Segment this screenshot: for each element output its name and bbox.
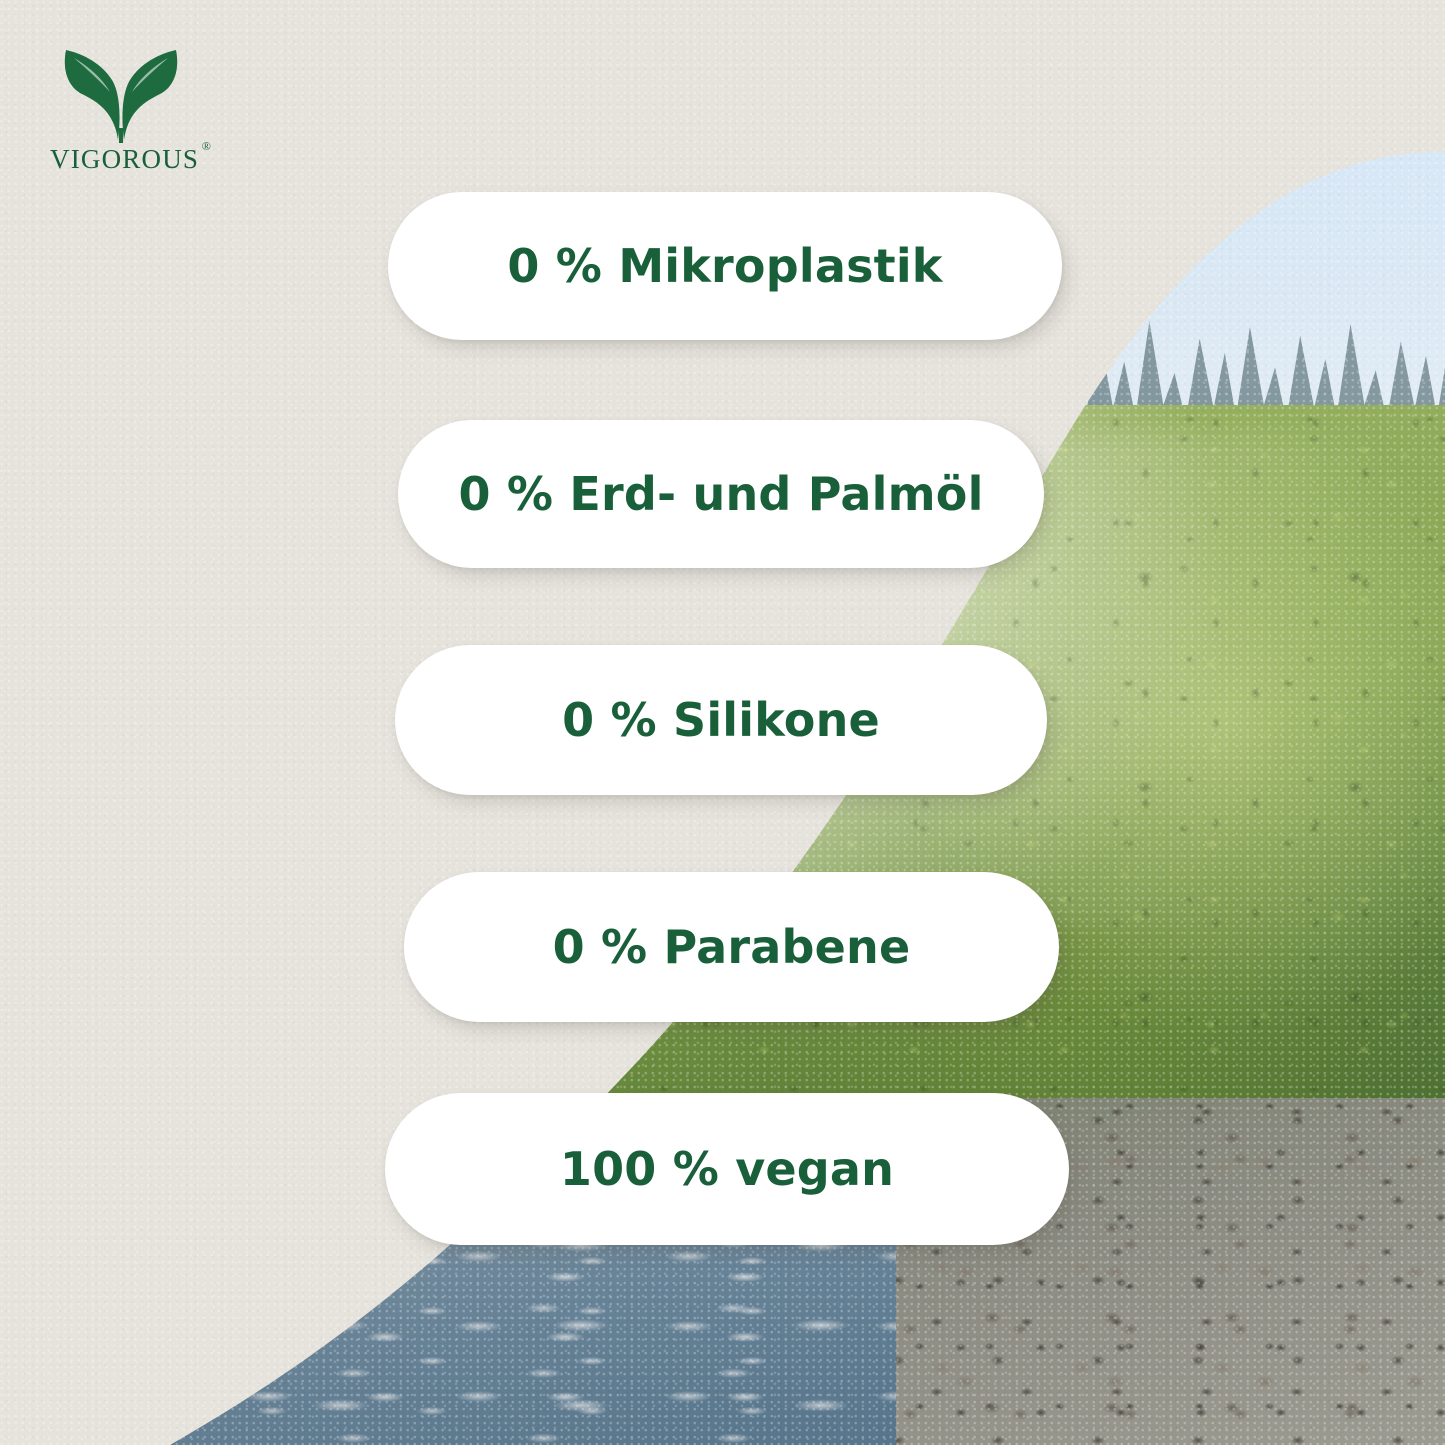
product-claims-graphic: VIGOROUS ® 0 % Mikroplastik 0 % Erd- und… (0, 0, 1445, 1445)
claim-label: 100 % vegan (560, 1146, 894, 1192)
claim-label: 0 % Parabene (553, 924, 911, 970)
brand-wordmark: VIGOROUS ® (50, 146, 199, 173)
registered-mark: ® (202, 140, 212, 152)
claim-label: 0 % Mikroplastik (507, 243, 942, 289)
claim-pill-parabene: 0 % Parabene (404, 872, 1059, 1022)
claim-pill-erd-und-palmoel: 0 % Erd- und Palmöl (398, 420, 1044, 568)
claim-label: 0 % Silikone (562, 697, 880, 743)
claim-pill-vegan: 100 % vegan (385, 1093, 1069, 1245)
twin-leaf-icon (58, 36, 184, 144)
claim-pill-silikone: 0 % Silikone (395, 645, 1047, 795)
claim-pill-mikroplastik: 0 % Mikroplastik (388, 192, 1062, 340)
claim-label: 0 % Erd- und Palmöl (458, 471, 983, 517)
brand-logo: VIGOROUS ® (46, 36, 236, 173)
brand-name: VIGOROUS (50, 144, 199, 174)
